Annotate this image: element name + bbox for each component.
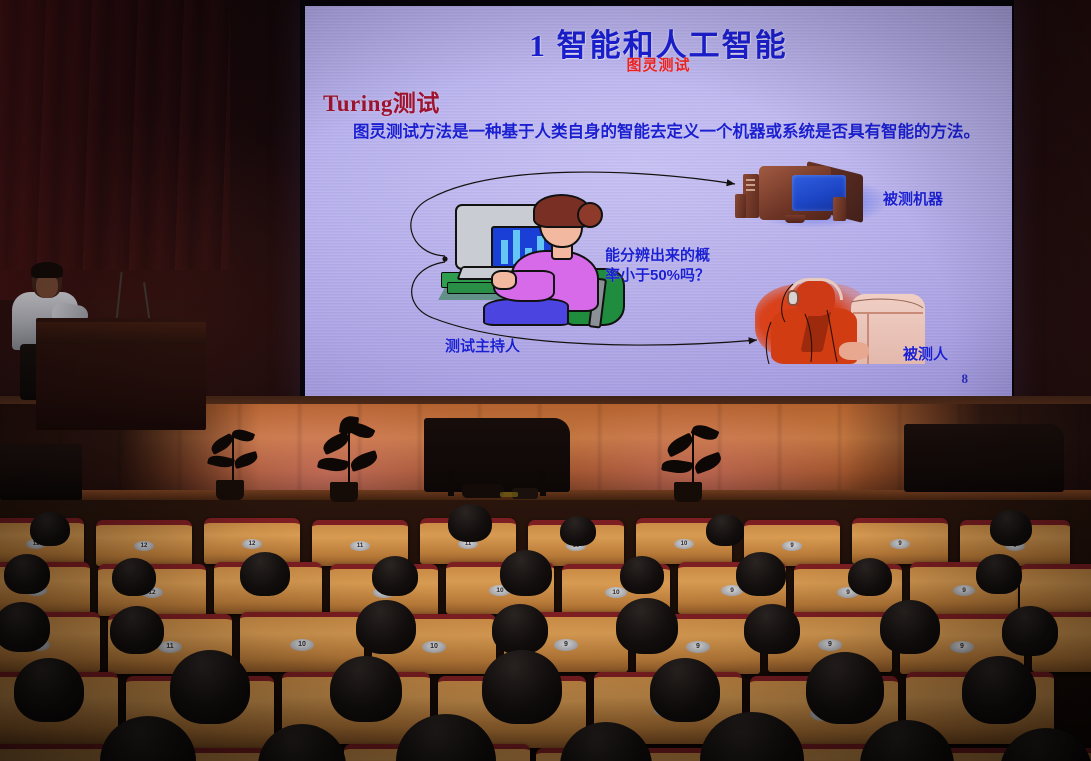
audience-head <box>650 658 720 722</box>
audience-head <box>240 552 290 596</box>
audience-head <box>990 510 1032 546</box>
audience-head <box>976 554 1022 594</box>
label-machine-under-test: 被测机器 <box>883 188 943 209</box>
audience-head <box>4 554 50 594</box>
label-person-under-test: 被测人 <box>903 343 948 364</box>
plant-pot <box>674 482 702 502</box>
stage-cable <box>500 492 518 497</box>
audience-head <box>500 550 552 596</box>
piano-leg <box>448 470 454 496</box>
slide-subtitle: 图灵测试 <box>305 54 1012 75</box>
slide-body-text: 图灵测试方法是一种基于人类自身的智能去定义一个机器或系统是否具有智能的方法。 <box>323 122 1007 143</box>
audience-seating: 12 12 12 11 11 10 10 9 9 9 12 12 11 11 1… <box>0 500 1091 761</box>
slide-section-heading: Turing测试 <box>323 84 440 118</box>
audience-head <box>0 602 50 652</box>
stage-speaker-box <box>0 444 82 500</box>
audience-head <box>1002 606 1058 656</box>
audience-head <box>372 556 418 596</box>
audience-head <box>112 558 156 596</box>
audience-head <box>110 606 164 654</box>
piano-left <box>424 418 570 492</box>
audience-head <box>448 504 492 542</box>
audience-head <box>848 558 892 596</box>
audience-head <box>492 604 548 654</box>
stage-curtain-folds <box>0 0 230 270</box>
plant-pot <box>216 480 244 500</box>
audience-head <box>30 512 70 546</box>
slide-page-number: 8 <box>962 371 969 387</box>
stage-equipment-case <box>462 484 504 498</box>
label-question: 能分辨出来的概 率小于50%吗？ <box>605 246 710 286</box>
podium-nameplate: 江苏省无锡交通高等职业技术学校 WUXI INSTITUTE OF COMMUN… <box>36 322 206 344</box>
speaker-hair <box>31 262 63 278</box>
potted-plant-center <box>316 414 384 502</box>
plant-pot <box>330 482 358 502</box>
lecture-hall-scene: 1 智能和人工智能 图灵测试 Turing测试 图灵测试方法是一种基于人类自身的… <box>0 0 1091 761</box>
audience-head <box>744 604 800 654</box>
audience-head <box>356 600 416 654</box>
piano-right <box>904 424 1064 492</box>
audience-head <box>482 650 562 724</box>
audience-head <box>560 516 596 546</box>
projection-screen: 1 智能和人工智能 图灵测试 Turing测试 图灵测试方法是一种基于人类自身的… <box>305 6 1012 396</box>
audience-head <box>706 514 744 546</box>
piano-leg <box>540 470 546 496</box>
audience-head <box>806 652 884 724</box>
audience-head <box>330 656 402 722</box>
seat: 9 <box>852 518 948 564</box>
audience-head <box>962 656 1036 724</box>
audience-head <box>170 650 250 724</box>
potted-plant-right <box>662 418 726 502</box>
label-test-host: 测试主持人 <box>445 335 520 356</box>
audience-head <box>620 556 664 594</box>
audience-head <box>14 658 84 722</box>
audience-head <box>616 598 678 654</box>
audience-head <box>736 552 786 596</box>
audience-head <box>880 600 940 654</box>
potted-plant-left <box>206 424 262 500</box>
